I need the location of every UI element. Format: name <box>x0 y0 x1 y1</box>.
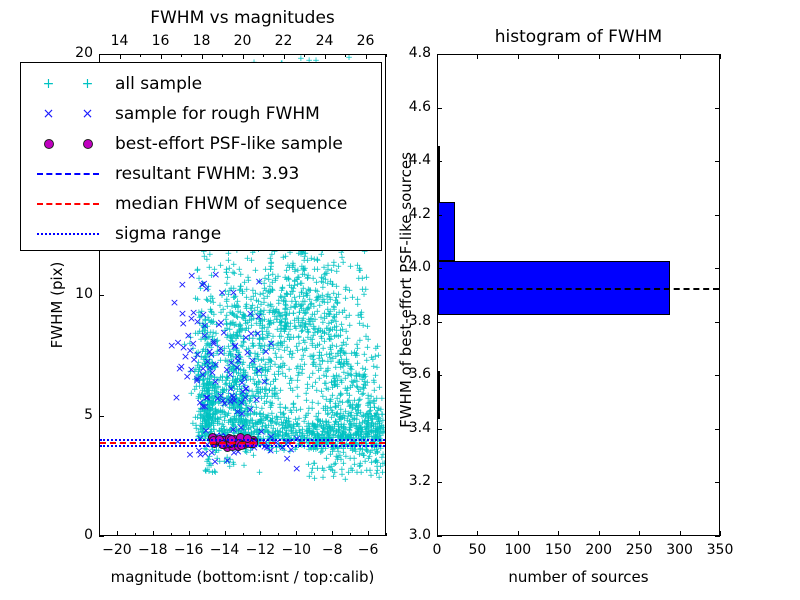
scatter-point: + <box>257 301 265 310</box>
scatter-point: + <box>277 322 285 331</box>
scatter-point: + <box>205 364 213 373</box>
hist-x-tick-top <box>680 54 681 59</box>
scatter-point: + <box>238 326 246 335</box>
scatter-point: × <box>202 392 211 403</box>
scatter-point: + <box>200 323 208 332</box>
scatter-point: + <box>365 415 373 424</box>
scatter-point: + <box>211 411 219 420</box>
scatter-point: + <box>281 306 289 315</box>
scatter-point: + <box>240 372 248 381</box>
scatter-point: + <box>211 393 219 402</box>
scatter-point: + <box>380 424 385 433</box>
scatter-point: + <box>304 257 312 266</box>
scatter-point: + <box>230 365 238 374</box>
circle-icon <box>83 139 93 149</box>
scatter-point: + <box>370 429 378 438</box>
x-tick-top <box>284 54 285 59</box>
scatter-point: + <box>311 475 319 484</box>
scatter-point: + <box>204 375 212 384</box>
scatter-point: + <box>315 375 323 384</box>
scatter-point: + <box>305 304 313 313</box>
scatter-point: + <box>342 328 350 337</box>
scatter-point: × <box>214 319 223 330</box>
scatter-point: + <box>192 295 200 304</box>
scatter-point: + <box>324 262 332 271</box>
scatter-point: + <box>287 348 295 357</box>
scatter-point: + <box>327 344 335 353</box>
scatter-point: + <box>223 374 231 383</box>
scatter-point: + <box>266 255 274 264</box>
scatter-point: + <box>329 317 337 326</box>
scatter-point: + <box>374 467 382 476</box>
scatter-point: + <box>232 365 240 374</box>
scatter-point: + <box>333 299 341 308</box>
scatter-point: + <box>302 320 310 329</box>
scatter-point: + <box>256 335 264 344</box>
scatter-point: + <box>298 356 306 365</box>
scatter-point: + <box>292 303 300 312</box>
scatter-point: + <box>364 323 372 332</box>
scatter-point: + <box>229 311 237 320</box>
scatter-point: + <box>319 319 327 328</box>
median-fwhm-line <box>100 442 385 444</box>
scatter-point: + <box>294 274 302 283</box>
scatter-point: + <box>240 359 248 368</box>
scatter-point: + <box>275 300 283 309</box>
scatter-point: + <box>238 405 246 414</box>
scatter-point: + <box>307 336 315 345</box>
scatter-point: × <box>238 386 247 397</box>
scatter-point: × <box>261 346 270 357</box>
scatter-point: + <box>270 390 278 399</box>
scatter-point: + <box>215 395 223 404</box>
scatter-point: + <box>294 281 302 290</box>
scatter-point: + <box>333 381 341 390</box>
scatter-point: + <box>204 375 212 384</box>
scatter-point: + <box>191 386 199 395</box>
scatter-point: + <box>344 398 352 407</box>
scatter-point: + <box>204 359 212 368</box>
scatter-point: + <box>224 369 232 378</box>
scatter-point: + <box>278 319 286 328</box>
scatter-point: + <box>356 386 364 395</box>
scatter-point: + <box>199 426 207 435</box>
scatter-point: + <box>205 468 213 477</box>
scatter-point: + <box>246 335 254 344</box>
scatter-point: × <box>234 355 243 366</box>
scatter-point: + <box>222 377 230 386</box>
scatter-point: + <box>203 407 211 416</box>
scatter-point: + <box>294 420 302 429</box>
scatter-point: + <box>202 467 210 476</box>
legend-item-label: sigma range <box>107 224 221 244</box>
scatter-point: + <box>308 353 316 362</box>
histogram-data-canvas <box>438 55 719 535</box>
scatter-point: + <box>246 362 254 371</box>
scatter-point: + <box>296 293 304 302</box>
scatter-point: + <box>324 367 332 376</box>
scatter-point: + <box>317 314 325 323</box>
scatter-point: + <box>205 317 213 326</box>
plus-icon: + <box>82 77 94 91</box>
scatter-point: + <box>341 350 349 359</box>
hist-x-tick <box>639 531 640 536</box>
scatter-point: + <box>363 426 371 435</box>
scatter-point: + <box>342 341 350 350</box>
scatter-point: + <box>204 456 212 465</box>
scatter-point: + <box>317 251 325 260</box>
scatter-point: + <box>241 313 249 322</box>
scatter-point: + <box>208 318 216 327</box>
scatter-point: + <box>230 331 238 340</box>
scatter-point: + <box>207 340 215 349</box>
scatter-point: + <box>236 287 244 296</box>
scatter-point: + <box>204 297 212 306</box>
scatter-point: + <box>330 373 338 382</box>
scatter-point: + <box>217 262 225 271</box>
scatter-point: + <box>204 350 212 359</box>
scatter-point: + <box>351 415 359 424</box>
scatter-point: + <box>205 415 213 424</box>
scatter-point: + <box>205 423 213 432</box>
scatter-point: + <box>323 325 331 334</box>
scatter-point: + <box>197 412 205 421</box>
scatter-point: + <box>313 426 321 435</box>
scatter-point: + <box>335 291 343 300</box>
x-tick-bottom <box>225 531 226 536</box>
scatter-point: + <box>266 343 274 352</box>
scatter-point: + <box>367 472 375 481</box>
scatter-point: + <box>211 394 219 403</box>
scatter-point: + <box>206 407 214 416</box>
scatter-point: + <box>270 319 278 328</box>
scatter-point: + <box>358 309 366 318</box>
scatter-point: + <box>329 467 337 476</box>
scatter-point: + <box>203 296 211 305</box>
hist-y-tick <box>437 536 442 537</box>
scatter-point: + <box>359 372 367 381</box>
scatter-point: + <box>208 420 216 429</box>
scatter-point: × <box>198 363 207 374</box>
scatter-point: + <box>244 410 252 419</box>
scatter-point: + <box>258 325 266 334</box>
scatter-point: + <box>338 342 346 351</box>
scatter-point: + <box>288 288 296 297</box>
scatter-point: + <box>300 352 308 361</box>
scatter-point: × <box>183 371 192 382</box>
scatter-point: + <box>238 373 246 382</box>
scatter-point: + <box>227 337 235 346</box>
scatter-point: + <box>262 377 270 386</box>
scatter-point: + <box>360 452 368 461</box>
scatter-point: + <box>251 399 259 408</box>
hist-y-tick <box>437 108 442 109</box>
scatter-point: + <box>336 359 344 368</box>
scatter-point: + <box>243 411 251 420</box>
scatter-point: + <box>222 411 230 420</box>
scatter-point: + <box>287 291 295 300</box>
scatter-point: + <box>319 393 327 402</box>
scatter-point: + <box>204 361 212 370</box>
scatter-point: + <box>337 347 345 356</box>
scatter-point: + <box>311 316 319 325</box>
scatter-point: + <box>253 320 261 329</box>
scatter-point: + <box>203 406 211 415</box>
scatter-point: + <box>373 463 381 472</box>
scatter-point: + <box>219 306 227 315</box>
scatter-point: + <box>359 384 367 393</box>
scatter-point: + <box>295 427 303 436</box>
x-minor-tick-bottom <box>386 533 387 536</box>
scatter-point: + <box>357 424 365 433</box>
scatter-point: + <box>365 410 373 419</box>
scatter-point: + <box>236 404 244 413</box>
scatter-point: × <box>229 392 238 403</box>
scatter-point: + <box>203 466 211 475</box>
scatter-point: + <box>205 264 213 273</box>
scatter-point: + <box>238 413 246 422</box>
scatter-point: + <box>337 416 345 425</box>
scatter-point: + <box>340 424 348 433</box>
scatter-point: + <box>254 372 262 381</box>
scatter-point: + <box>327 463 335 472</box>
scatter-point: + <box>219 421 227 430</box>
scatter-point: + <box>258 426 266 435</box>
hist-y-tick-right <box>715 536 720 537</box>
scatter-point: + <box>334 454 342 463</box>
scatter-point: + <box>268 402 276 411</box>
scatter-point: + <box>207 382 215 391</box>
scatter-point: + <box>332 377 340 386</box>
scatter-point: + <box>231 423 239 432</box>
scatter-point: + <box>319 275 327 284</box>
scatter-point: + <box>314 266 322 275</box>
scatter-point: + <box>365 411 373 420</box>
scatter-point: + <box>299 327 307 336</box>
scatter-point: × <box>254 311 263 322</box>
hist-x-tick <box>720 531 721 536</box>
scatter-point: + <box>335 309 343 318</box>
scatter-point: + <box>264 332 272 341</box>
scatter-point: + <box>208 400 216 409</box>
scatter-point: + <box>226 348 234 357</box>
scatter-point: + <box>237 405 245 414</box>
scatter-point: × <box>252 394 261 405</box>
scatter-point: × <box>193 316 202 327</box>
scatter-point: + <box>203 384 211 393</box>
scatter-point: + <box>210 398 218 407</box>
scatter-point: + <box>234 386 242 395</box>
scatter-point: + <box>319 328 327 337</box>
scatter-point: + <box>202 335 210 344</box>
scatter-point: + <box>320 467 328 476</box>
scatter-point: + <box>253 297 261 306</box>
scatter-point: + <box>363 357 371 366</box>
scatter-point: + <box>281 326 289 335</box>
scatter-point: + <box>337 390 345 399</box>
scatter-point: + <box>353 416 361 425</box>
scatter-point: + <box>252 404 260 413</box>
scatter-point: + <box>267 260 275 269</box>
scatter-point: + <box>203 411 211 420</box>
scatter-point: + <box>225 265 233 274</box>
scatter-point: × <box>227 383 236 394</box>
scatter-point: + <box>370 377 378 386</box>
scatter-point: + <box>347 465 355 474</box>
scatter-point: + <box>300 418 308 427</box>
scatter-point: × <box>203 392 212 403</box>
scatter-point: + <box>319 418 327 427</box>
scatter-point: + <box>341 415 349 424</box>
scatter-point: + <box>258 405 266 414</box>
scatter-point: + <box>339 326 347 335</box>
scatter-point: + <box>195 368 203 377</box>
scatter-point: + <box>371 404 379 413</box>
scatter-point: + <box>340 360 348 369</box>
x-minor-tick-top <box>386 54 387 57</box>
scatter-point: + <box>225 395 233 404</box>
scatter-point: + <box>215 400 223 409</box>
scatter-point: + <box>245 353 253 362</box>
scatter-point: + <box>379 429 385 438</box>
scatter-point: + <box>257 419 265 428</box>
scatter-point: + <box>198 406 206 415</box>
scatter-point: + <box>302 414 310 423</box>
scatter-point: + <box>305 423 313 432</box>
scatter-point: + <box>246 420 254 429</box>
x-tick-bottom <box>332 531 333 536</box>
scatter-point: × <box>198 279 207 290</box>
scatter-point: + <box>368 419 376 428</box>
scatter-point: + <box>233 403 241 412</box>
scatter-point: + <box>223 312 231 321</box>
scatter-point: + <box>260 299 268 308</box>
scatter-point: + <box>204 323 212 332</box>
scatter-point: + <box>273 413 281 422</box>
scatter-point: × <box>178 308 187 319</box>
scatter-point: + <box>196 366 204 375</box>
scatter-point: + <box>196 376 204 385</box>
scatter-point: + <box>327 278 335 287</box>
scatter-point: + <box>271 385 279 394</box>
scatter-point: + <box>324 291 332 300</box>
scatter-point: + <box>361 413 369 422</box>
scatter-point: + <box>249 420 257 429</box>
scatter-point: + <box>226 399 234 408</box>
scatter-point: + <box>364 402 372 411</box>
scatter-point: + <box>237 378 245 387</box>
scatter-point: + <box>328 281 336 290</box>
scatter-point: + <box>373 429 381 438</box>
scatter-point: + <box>207 366 215 375</box>
scatter-point: + <box>376 420 384 429</box>
scatter-point: + <box>259 386 267 395</box>
scatter-point: + <box>201 316 209 325</box>
scatter-point: + <box>237 415 245 424</box>
hist-y-tick <box>437 322 442 323</box>
scatter-point: + <box>264 412 272 421</box>
scatter-point: + <box>333 411 341 420</box>
scatter-point: + <box>205 369 213 378</box>
scatter-point: + <box>349 405 357 414</box>
scatter-point: + <box>230 405 238 414</box>
scatter-point: + <box>302 412 310 421</box>
scatter-point: + <box>265 366 273 375</box>
scatter-point: + <box>211 362 219 371</box>
scatter-point: + <box>296 323 304 332</box>
scatter-point: + <box>237 333 245 342</box>
scatter-point: + <box>235 266 243 275</box>
scatter-point: + <box>324 410 332 419</box>
scatter-point: + <box>214 415 222 424</box>
scatter-point: + <box>267 263 275 272</box>
scatter-point: + <box>284 291 292 300</box>
scatter-point: + <box>315 325 323 334</box>
scatter-point: + <box>327 466 335 475</box>
scatter-point: + <box>286 264 294 273</box>
scatter-point: + <box>222 401 230 410</box>
scatter-point: + <box>243 402 251 411</box>
scatter-point: + <box>231 363 239 372</box>
scatter-point: + <box>232 379 240 388</box>
scatter-point: + <box>282 302 290 311</box>
scatter-point: + <box>309 430 317 439</box>
scatter-point: + <box>189 345 197 354</box>
scatter-point: + <box>279 284 287 293</box>
scatter-point: + <box>298 319 306 328</box>
scatter-point: + <box>365 424 373 433</box>
scatter-point: + <box>212 406 220 415</box>
scatter-point: + <box>294 372 302 381</box>
scatter-point: + <box>248 388 256 397</box>
scatter-point: + <box>206 387 214 396</box>
scatter-point: + <box>266 289 274 298</box>
scatter-point: + <box>281 425 289 434</box>
scatter-point: + <box>261 275 269 284</box>
scatter-point: + <box>373 411 381 420</box>
scatter-point: + <box>280 297 288 306</box>
scatter-point: × <box>193 373 202 384</box>
scatter-point: + <box>251 364 259 373</box>
scatter-point: + <box>356 451 364 460</box>
scatter-point: + <box>331 423 339 432</box>
scatter-point: + <box>360 385 368 394</box>
scatter-point: + <box>321 380 329 389</box>
scatter-point: + <box>292 429 300 438</box>
scatter-point: + <box>330 306 338 315</box>
scatter-point: + <box>219 377 227 386</box>
scatter-point: + <box>369 415 377 424</box>
scatter-point: + <box>229 342 237 351</box>
scatter-point: + <box>336 348 344 357</box>
scatter-point: + <box>373 459 381 468</box>
scatter-point: + <box>284 275 292 284</box>
scatter-point: + <box>196 391 204 400</box>
scatter-point: + <box>224 362 232 371</box>
scatter-point: + <box>268 387 276 396</box>
scatter-point: + <box>203 458 211 467</box>
scatter-point: + <box>282 298 290 307</box>
scatter-point: + <box>291 317 299 326</box>
scatter-point: + <box>304 328 312 337</box>
scatter-point: + <box>214 418 222 427</box>
scatter-point: + <box>354 384 362 393</box>
scatter-point: + <box>353 410 361 419</box>
scatter-point: + <box>321 315 329 324</box>
scatter-point: × <box>211 376 220 387</box>
scatter-point: + <box>200 402 208 411</box>
scatter-point: × <box>233 351 242 362</box>
